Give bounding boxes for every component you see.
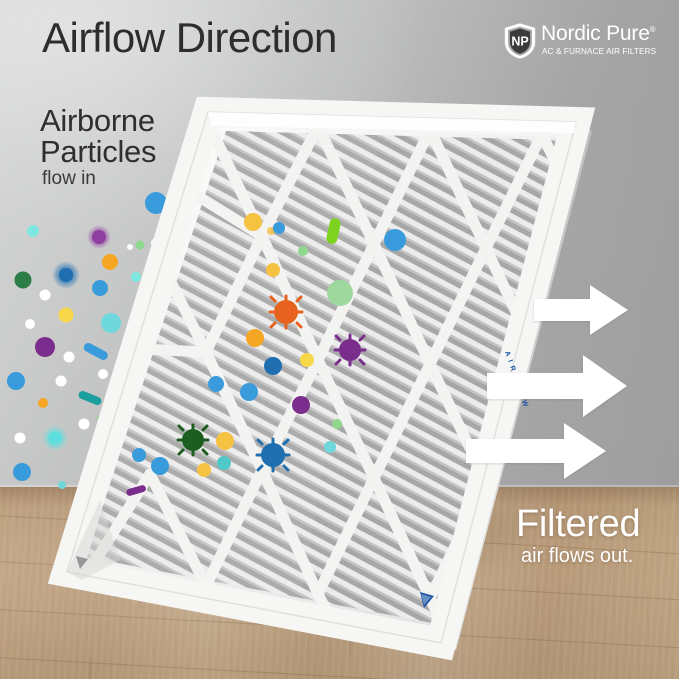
filtered-air-arrow-middle [487, 355, 627, 417]
air-filter-graphic: A I R F L O W [0, 0, 679, 679]
air-filter: A I R F L O W [0, 0, 679, 679]
filtered-subtext: air flows out. [521, 545, 633, 568]
filtered-air-arrow-bottom [466, 423, 606, 479]
infographic-scene: Airflow Direction NP Nordic Pure® AC & F… [0, 0, 679, 679]
filtered-heading: Filtered [516, 503, 640, 546]
filtered-air-arrow-top [534, 285, 628, 335]
